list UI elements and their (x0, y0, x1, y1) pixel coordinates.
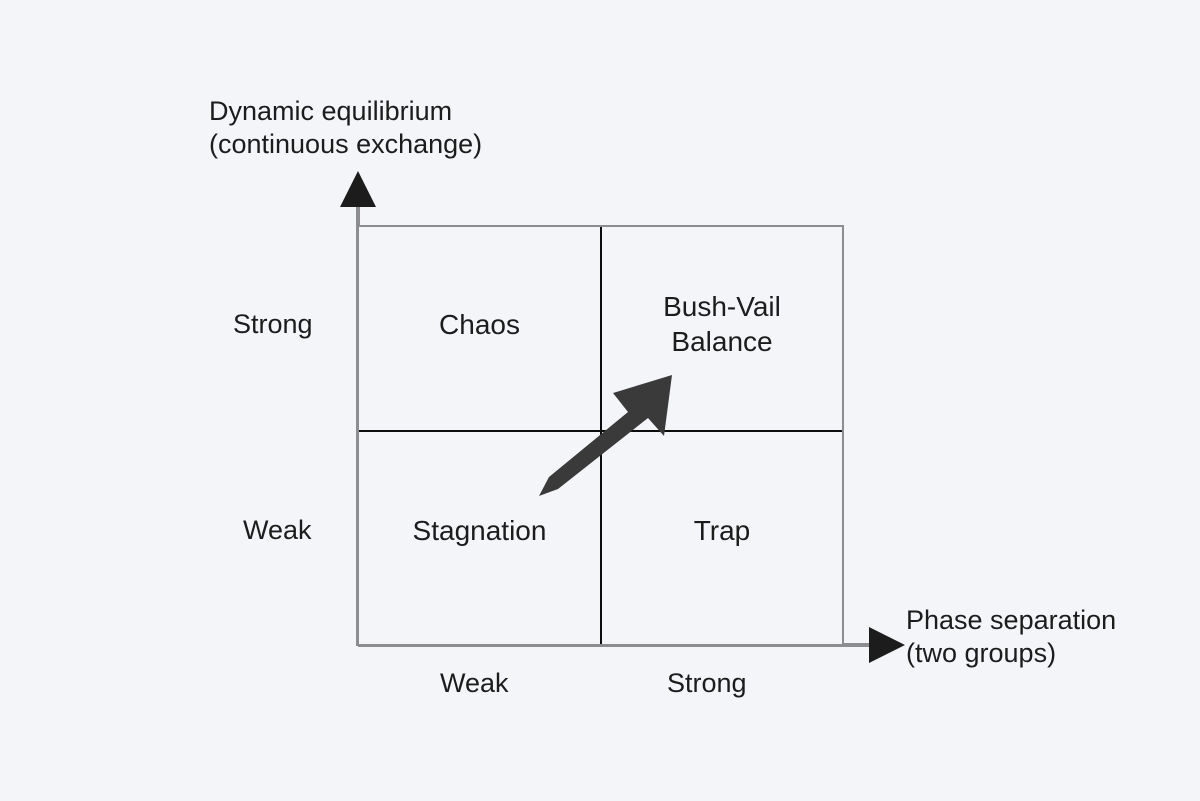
x-axis-title-line1: Phase separation (906, 605, 1116, 635)
quadrant-top-left: Chaos (359, 307, 600, 342)
y-axis-title: Dynamic equilibrium(continuous exchange) (209, 95, 482, 161)
diagram-canvas: Dynamic equilibrium(continuous exchange)… (0, 0, 1200, 801)
x-axis-tick-strong: Strong (667, 667, 747, 700)
quadrant-top-right: Bush-Vail Balance (602, 289, 842, 359)
y-axis-title-line1: Dynamic equilibrium (209, 96, 452, 126)
quadrant-top-right-label-line1: Bush-Vail (663, 291, 781, 322)
quadrant-matrix: Chaos Bush-Vail Balance Stagnation Trap (357, 225, 844, 646)
quadrant-top-right-label-line2: Balance (671, 326, 772, 357)
y-axis-tick-strong: Strong (233, 308, 313, 341)
x-axis-title: Phase separation(two groups) (906, 604, 1116, 670)
quadrant-bottom-left-label: Stagnation (413, 515, 547, 546)
x-axis-tick-weak: Weak (440, 667, 509, 700)
quadrant-bottom-right: Trap (602, 513, 842, 548)
quadrant-top-left-label: Chaos (439, 309, 520, 340)
quadrant-bottom-left: Stagnation (359, 513, 600, 548)
y-axis-title-line2: (continuous exchange) (209, 129, 482, 159)
y-axis-tick-weak: Weak (243, 514, 312, 547)
quadrant-bottom-right-label: Trap (694, 515, 751, 546)
x-axis-title-line2: (two groups) (906, 638, 1056, 668)
